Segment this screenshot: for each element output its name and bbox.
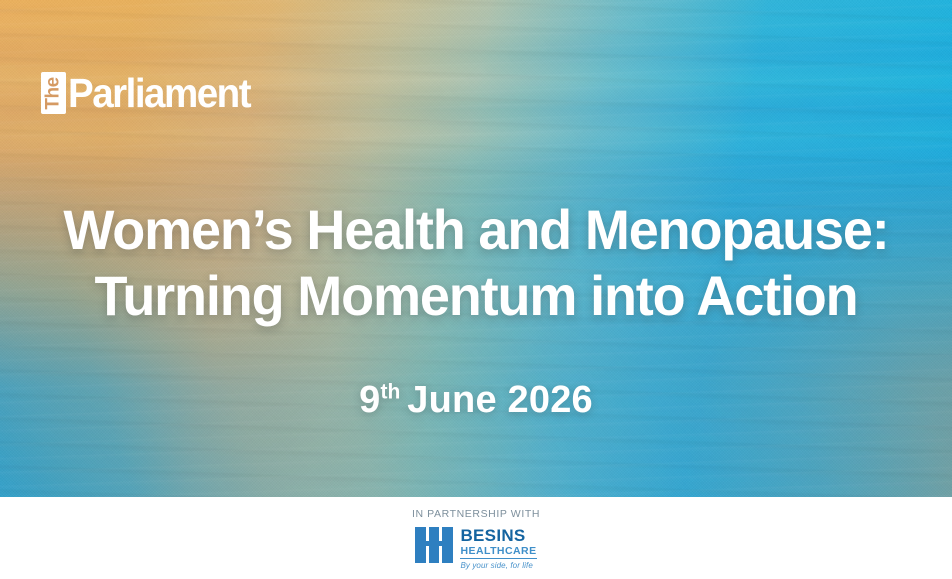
parliament-logo-the-text: The bbox=[44, 77, 63, 109]
besins-brand-tagline: By your side, for life bbox=[460, 561, 536, 571]
event-title-line-2: Turning Momentum into Action bbox=[17, 263, 936, 329]
besins-brand-subtitle: HEALTHCARE bbox=[460, 545, 536, 559]
event-date: 9thJune 2026 bbox=[0, 378, 952, 422]
partnership-label: IN PARTNERSHIP WITH bbox=[412, 508, 540, 520]
besins-logo-text: BESINS HEALTHCARE By your side, for life bbox=[460, 527, 536, 571]
footer-partnership-bar: IN PARTNERSHIP WITH BESINS HEALTHCARE By… bbox=[0, 497, 952, 579]
event-title-line-1: Women’s Health and Menopause: bbox=[17, 197, 936, 263]
besins-mark-crossbar bbox=[426, 541, 442, 546]
parliament-logo[interactable]: The Parliament bbox=[41, 72, 262, 114]
event-title: Women’s Health and Menopause: Turning Mo… bbox=[0, 197, 952, 329]
besins-h-mark-icon bbox=[415, 527, 453, 563]
event-date-day: 9 bbox=[359, 379, 380, 421]
event-promo-banner: The Parliament Women’s Health and Menopa… bbox=[0, 0, 952, 579]
besins-healthcare-logo[interactable]: BESINS HEALTHCARE By your side, for life bbox=[415, 527, 536, 571]
besins-mark-bar-left bbox=[415, 527, 426, 563]
event-date-ordinal-suffix: th bbox=[380, 380, 400, 403]
parliament-logo-the-box: The bbox=[41, 72, 66, 114]
besins-brand-name: BESINS bbox=[460, 527, 536, 544]
besins-mark-bar-mid-bot bbox=[429, 546, 439, 563]
parliament-logo-wordmark: Parliament bbox=[68, 72, 250, 114]
besins-mark-bar-mid-top bbox=[429, 527, 439, 541]
event-date-month-year: June 2026 bbox=[407, 379, 593, 421]
besins-mark-bar-right bbox=[442, 527, 453, 563]
